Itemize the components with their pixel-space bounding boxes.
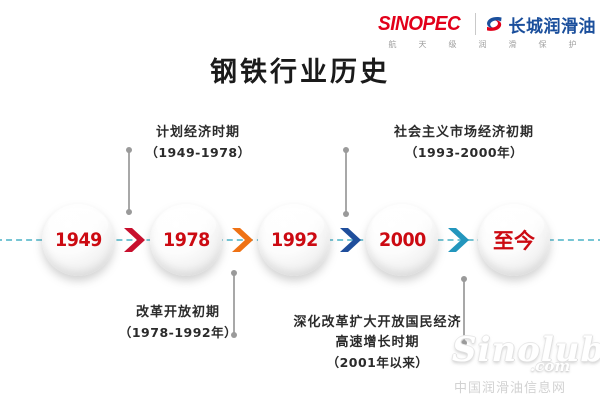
callout-socialist-market-economy: 社会主义市场经济初期 （1993-2000年）: [364, 123, 564, 163]
logo-divider: [475, 13, 476, 35]
logo-wordmark-row: SINOPEC 长城润滑油: [378, 12, 596, 36]
arrow-1978-to-1992-icon: [230, 226, 256, 254]
callout-headline: 社会主义市场经济初期: [364, 123, 564, 143]
tagline-char-3: 级: [438, 39, 468, 50]
page-title: 钢铁行业历史: [0, 50, 600, 89]
timeline-node-present[interactable]: 至今: [478, 204, 550, 276]
callout-years: （2001年以来）: [290, 353, 465, 372]
timeline-node-1992[interactable]: 1992: [258, 204, 330, 276]
connector-dot: [231, 270, 237, 276]
callout-headline: 深化改革扩大开放国民经济高速增长时期: [290, 313, 465, 353]
slide-canvas: SINOPEC 长城润滑油 航 天 级 润 滑 保 护 钢铁行业历史 1949 …: [0, 0, 600, 403]
arrow-1949-to-1978-icon: [122, 226, 148, 254]
timeline-node-label: 1949: [55, 229, 102, 251]
timeline-node-label: 至今: [493, 225, 535, 255]
timeline-node-label: 1978: [163, 229, 210, 251]
connector-dot: [461, 276, 467, 282]
callout-planned-economy: 计划经济时期 （1949-1978）: [118, 123, 278, 163]
connector-socialist-market-economy: [345, 150, 347, 214]
great-wall-wordmark: 长城润滑油: [509, 12, 597, 37]
callout-years: （1978-1992年）: [98, 323, 258, 342]
connector-dot: [126, 209, 132, 215]
connector-dot: [343, 147, 349, 153]
watermark-chinese-text: 中国润滑油信息网: [454, 377, 566, 396]
timeline-node-1949[interactable]: 1949: [42, 204, 114, 276]
timeline-node-1978[interactable]: 1978: [150, 204, 222, 276]
timeline-node-2000[interactable]: 2000: [366, 204, 438, 276]
tagline-char-5: 滑: [498, 39, 528, 50]
callout-reform-opening: 改革开放初期 （1978-1992年）: [98, 303, 258, 343]
callout-years: （1993-2000年）: [364, 143, 564, 162]
tagline-char-7: 护: [558, 39, 588, 50]
callout-headline: 计划经济时期: [118, 123, 278, 143]
logo-tagline: 航 天 级 润 滑 保 护: [378, 39, 594, 50]
callout-headline: 改革开放初期: [98, 303, 258, 323]
callout-years: （1949-1978）: [118, 143, 278, 162]
watermark-script-text: Sinolub: [452, 330, 600, 370]
arrow-2000-to-present-icon: [446, 226, 472, 254]
tagline-char-2: 天: [408, 39, 438, 50]
great-wall-swoosh-icon: [484, 14, 504, 34]
timeline-node-label: 1992: [271, 229, 318, 251]
timeline-node-label: 2000: [379, 229, 426, 251]
watermark: Sinolub .com 中国润滑油信息网: [452, 330, 600, 400]
watermark-dotcom-text: .com: [530, 357, 570, 375]
connector-dot: [343, 211, 349, 217]
tagline-char-1: 航: [378, 39, 408, 50]
sinopec-great-wall-logo: SINOPEC 长城润滑油 航 天 级 润 滑 保 护: [378, 12, 594, 54]
tagline-char-6: 保: [528, 39, 558, 50]
arrow-1992-to-2000-icon: [338, 226, 364, 254]
sinopec-wordmark: SINOPEC: [378, 13, 460, 35]
callout-deepening-reform: 深化改革扩大开放国民经济高速增长时期 （2001年以来）: [290, 313, 465, 373]
tagline-char-4: 润: [468, 39, 498, 50]
